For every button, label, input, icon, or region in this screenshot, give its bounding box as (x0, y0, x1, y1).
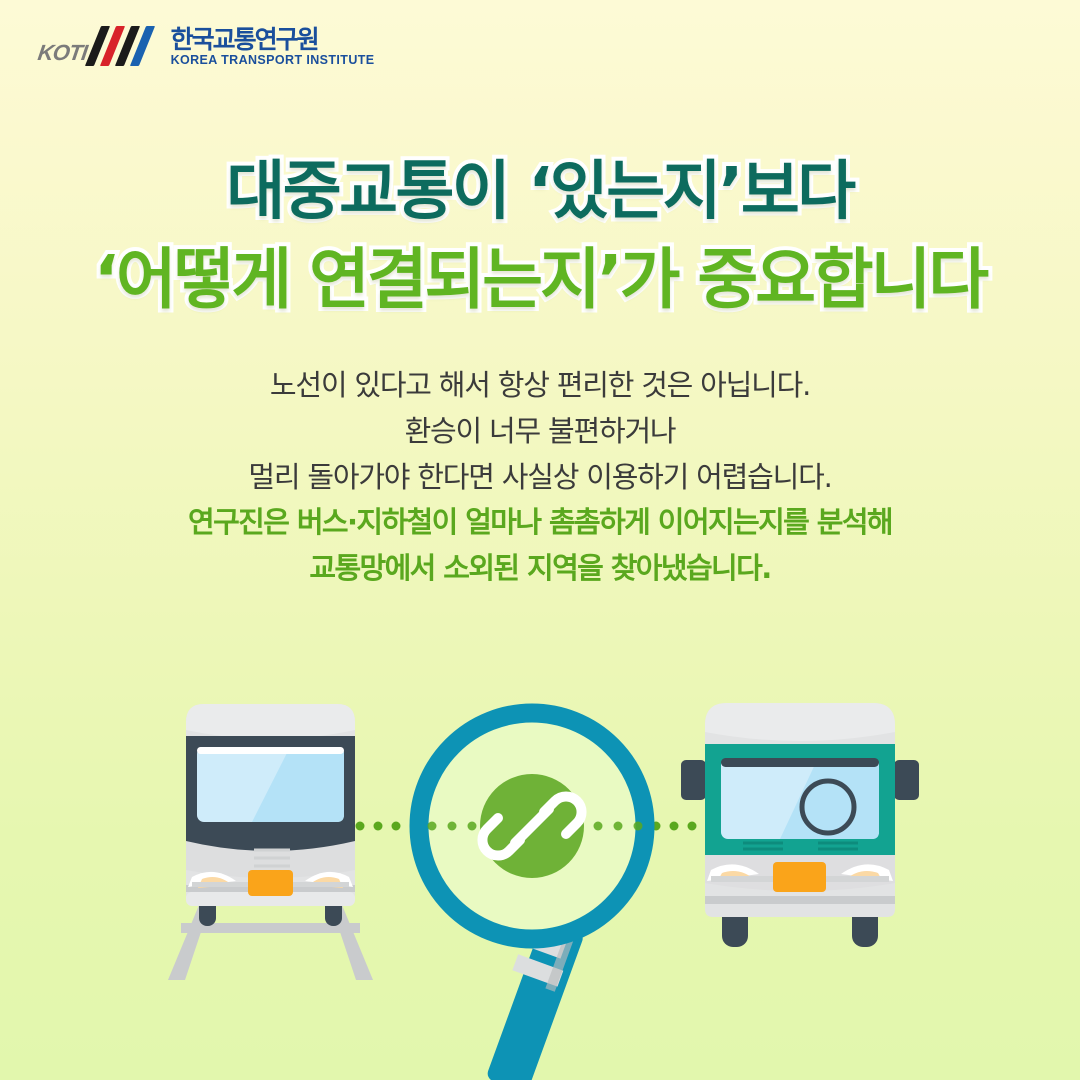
koti-stripe-mark (93, 22, 159, 66)
magnifying-glass-with-link (414, 708, 650, 1080)
koti-wordmark: KOTI (36, 42, 88, 64)
body-line-1: 노선이 있다고 해서 항상 편리한 것은 아닙니다. (0, 363, 1080, 409)
illustration-transit-connection (0, 690, 1080, 1080)
train-plate (248, 870, 293, 896)
koti-logo: KOTI 한국교통연구원 KOREA TRANSPORT INSTITUTE (38, 22, 375, 68)
body-line-5: 교통망에서 소외된 지역을 찾아냈습니다. (0, 546, 1080, 592)
koti-name-en: KOREA TRANSPORT INSTITUTE (171, 53, 375, 68)
koti-name-kr: 한국교통연구원 (171, 27, 375, 53)
bus-windshield (721, 758, 879, 839)
page-title: 대중교통이 ‘있는지’보다 ‘어떻게 연결되는지’가 중요합니다 (0, 150, 1080, 324)
headline-line-1: 대중교통이 ‘있는지’보다 (0, 150, 1080, 236)
train-front-view (168, 704, 373, 980)
headline-line-2: ‘어떻게 연결되는지’가 중요합니다 (0, 236, 1080, 324)
bus-plate (773, 862, 826, 892)
bus-front-view (681, 703, 919, 947)
body-line-4: 연구진은 버스·지하철이 얼마나 촘촘하게 이어지는지를 분석해 (0, 500, 1080, 546)
train-rails (168, 905, 373, 980)
train-windshield (186, 736, 355, 851)
body-line-2: 환승이 너무 불편하거나 (0, 409, 1080, 455)
body-line-3: 멀리 돌아가야 한다면 사실상 이용하기 어렵습니다. (0, 455, 1080, 501)
body-copy: 노선이 있다고 해서 항상 편리한 것은 아닙니다. 환승이 너무 불편하거나 … (0, 363, 1080, 592)
koti-name-block: 한국교통연구원 KOREA TRANSPORT INSTITUTE (171, 27, 375, 68)
